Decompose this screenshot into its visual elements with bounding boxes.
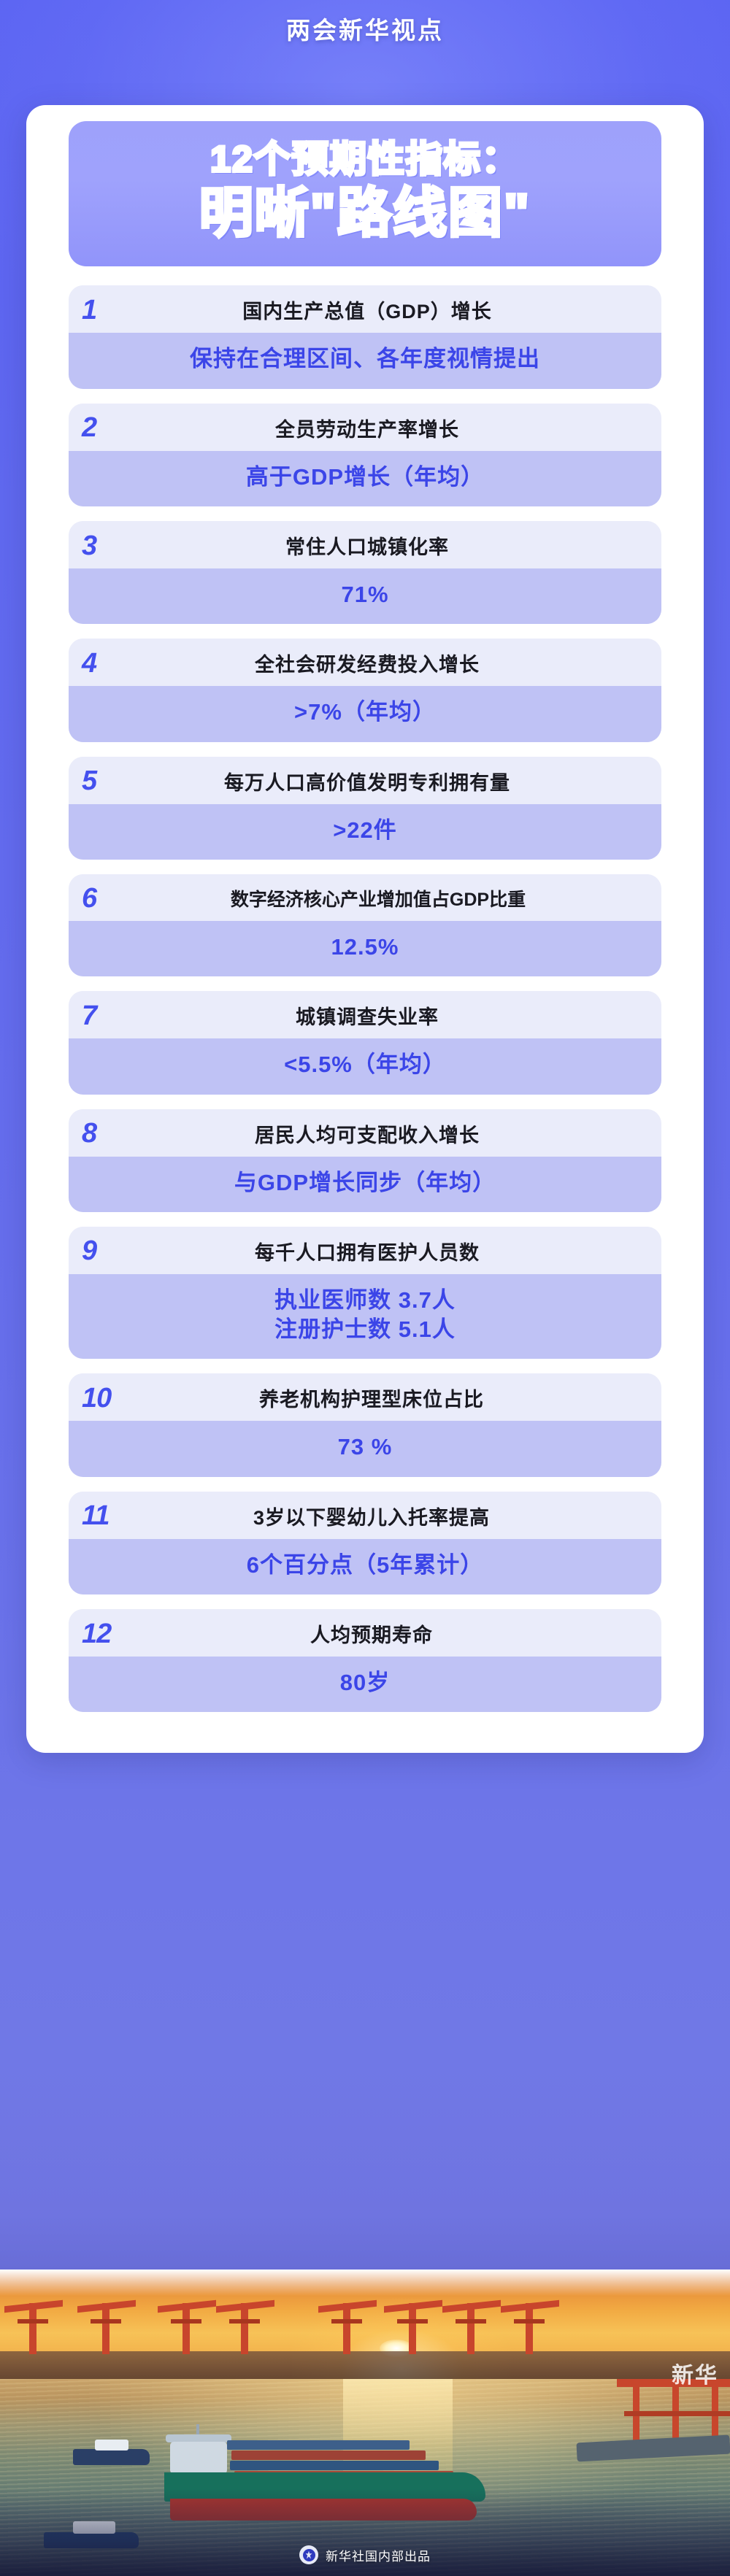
indicator-value: >22件 xyxy=(69,804,661,860)
indicator-card: 4全社会研发经费投入增长>7%（年均） xyxy=(69,639,661,741)
title-card: 12个预期性指标： 明晰"路线图" xyxy=(69,121,661,266)
indicator-title: 常住人口城镇化率 xyxy=(137,531,648,560)
ship-bridge xyxy=(170,2442,227,2474)
indicator-value: 保持在合理区间、各年度视情提出 xyxy=(69,333,661,388)
indicator-value-line: 与GDP增长同步（年均） xyxy=(82,1168,648,1198)
indicator-value: 与GDP增长同步（年均） xyxy=(69,1157,661,1212)
indicator-value-line: <5.5%（年均） xyxy=(82,1050,648,1079)
indicator-title: 养老机构护理型床位占比 xyxy=(146,1384,648,1412)
indicator-title: 全员劳动生产率增长 xyxy=(137,414,648,442)
indicator-number: 9 xyxy=(82,1237,137,1265)
indicator-card: 2全员劳动生产率增长高于GDP增长（年均） xyxy=(69,404,661,506)
indicator-value: 80岁 xyxy=(69,1657,661,1712)
indicator-card-head: 6数字经济核心产业增加值占GDP比重 xyxy=(69,874,661,921)
indicator-number: 10 xyxy=(82,1384,146,1412)
title-line-primary: 12个预期性指标： xyxy=(69,140,661,179)
indicator-title: 每千人口拥有医护人员数 xyxy=(137,1237,648,1265)
indicator-title: 居民人均可支配收入增长 xyxy=(137,1119,648,1148)
indicator-card-head: 12人均预期寿命 xyxy=(69,1609,661,1657)
indicator-card-head: 113岁以下婴幼儿入托率提高 xyxy=(69,1492,661,1539)
indicator-number: 2 xyxy=(82,414,137,441)
harbor-photo: 新华 xyxy=(0,2270,730,2576)
indicator-number: 4 xyxy=(82,649,137,677)
port-crane-icon xyxy=(526,2303,533,2354)
indicator-value-line: 执业医师数 3.7人 xyxy=(82,1286,648,1315)
indicator-list: 1国内生产总值（GDP）增长保持在合理区间、各年度视情提出2全员劳动生产率增长高… xyxy=(69,285,661,1712)
indicator-value: >7%（年均） xyxy=(69,686,661,741)
indicator-card: 6数字经济核心产业增加值占GDP比重12.5% xyxy=(69,874,661,976)
indicator-card: 3常住人口城镇化率71% xyxy=(69,521,661,624)
indicator-card: 10养老机构护理型床位占比73 % xyxy=(69,1373,661,1476)
indicator-card-head: 10养老机构护理型床位占比 xyxy=(69,1373,661,1421)
indicator-card: 1国内生产总值（GDP）增长保持在合理区间、各年度视情提出 xyxy=(69,285,661,388)
indicator-title: 数字经济核心产业增加值占GDP比重 xyxy=(137,885,648,911)
indicator-title: 人均预期寿命 xyxy=(146,1619,648,1648)
indicator-value: 执业医师数 3.7人注册护士数 5.1人 xyxy=(69,1274,661,1360)
indicator-title: 国内生产总值（GDP）增长 xyxy=(137,296,648,324)
indicator-title: 城镇调查失业率 xyxy=(137,1001,648,1030)
indicator-card-head: 2全员劳动生产率增长 xyxy=(69,404,661,451)
indicator-title: 每万人口高价值发明专利拥有量 xyxy=(137,767,648,795)
photo-watermark: 新华 xyxy=(672,2357,718,2389)
indicator-value: <5.5%（年均） xyxy=(69,1038,661,1094)
indicator-number: 3 xyxy=(82,532,137,560)
indicator-card: 113岁以下婴幼儿入托率提高6个百分点（5年累计） xyxy=(69,1492,661,1594)
indicator-value: 高于GDP增长（年均） xyxy=(69,451,661,506)
indicator-number: 12 xyxy=(82,1620,146,1648)
indicator-number: 6 xyxy=(82,884,137,912)
indicator-number: 5 xyxy=(82,767,137,795)
port-crane-icon xyxy=(182,2303,190,2354)
port-crane-icon xyxy=(467,2303,474,2354)
tugboat xyxy=(73,2449,150,2465)
indicator-value-line: 73 % xyxy=(82,1432,648,1462)
indicator-card-head: 1国内生产总值（GDP）增长 xyxy=(69,285,661,333)
title-line-secondary: 明晰"路线图" xyxy=(69,185,661,242)
indicator-card-head: 5每万人口高价值发明专利拥有量 xyxy=(69,757,661,804)
indicator-value-line: >22件 xyxy=(82,816,648,845)
port-crane-icon xyxy=(241,2303,248,2354)
indicator-card-head: 4全社会研发经费投入增长 xyxy=(69,639,661,686)
indicator-card: 5每万人口高价值发明专利拥有量>22件 xyxy=(69,757,661,860)
indicator-card-head: 7城镇调查失业率 xyxy=(69,991,661,1038)
credit-bar: 新华社国内部出品 xyxy=(0,2545,730,2564)
port-crane-icon xyxy=(29,2303,36,2354)
indicator-value-line: 71% xyxy=(82,580,648,609)
indicator-title: 全社会研发经费投入增长 xyxy=(137,649,648,677)
indicator-value-line: >7%（年均） xyxy=(82,698,648,727)
indicator-value: 6个百分点（5年累计） xyxy=(69,1539,661,1594)
indicator-value-line: 注册护士数 5.1人 xyxy=(82,1315,648,1344)
indicator-value: 12.5% xyxy=(69,921,661,976)
port-crane-icon xyxy=(343,2303,350,2354)
indicator-card-head: 3常住人口城镇化率 xyxy=(69,521,661,568)
indicator-number: 11 xyxy=(82,1502,146,1530)
indicator-card: 12人均预期寿命80岁 xyxy=(69,1609,661,1712)
xinhua-logo-icon xyxy=(299,2545,318,2564)
photo-top-fade xyxy=(0,2270,730,2296)
port-crane-icon xyxy=(409,2303,416,2354)
port-crane-icon xyxy=(102,2303,109,2354)
indicator-title: 3岁以下婴幼儿入托率提高 xyxy=(146,1502,648,1530)
indicator-card: 7城镇调查失业率<5.5%（年均） xyxy=(69,991,661,1094)
content-sheet: 12个预期性指标： 明晰"路线图" 1国内生产总值（GDP）增长保持在合理区间、… xyxy=(26,105,704,1753)
indicator-value-line: 高于GDP增长（年均） xyxy=(82,463,648,492)
indicator-card: 9每千人口拥有医护人员数执业医师数 3.7人注册护士数 5.1人 xyxy=(69,1227,661,1360)
indicator-card: 8居民人均可支配收入增长与GDP增长同步（年均） xyxy=(69,1109,661,1212)
indicator-card-head: 9每千人口拥有医护人员数 xyxy=(69,1227,661,1274)
indicator-value-line: 80岁 xyxy=(82,1668,648,1697)
credit-text: 新华社国内部出品 xyxy=(326,2546,431,2564)
indicator-value-line: 6个百分点（5年累计） xyxy=(82,1551,648,1580)
indicator-card-head: 8居民人均可支配收入增长 xyxy=(69,1109,661,1157)
indicator-value: 71% xyxy=(69,568,661,624)
indicator-value-line: 12.5% xyxy=(82,933,648,962)
indicator-value-line: 保持在合理区间、各年度视情提出 xyxy=(82,344,648,374)
indicator-number: 7 xyxy=(82,1002,137,1030)
indicator-number: 1 xyxy=(82,296,137,324)
header-title: 两会新华视点 xyxy=(286,11,444,46)
indicator-number: 8 xyxy=(82,1119,137,1147)
indicator-value: 73 % xyxy=(69,1421,661,1476)
header-bar: 两会新华视点 xyxy=(0,0,730,57)
